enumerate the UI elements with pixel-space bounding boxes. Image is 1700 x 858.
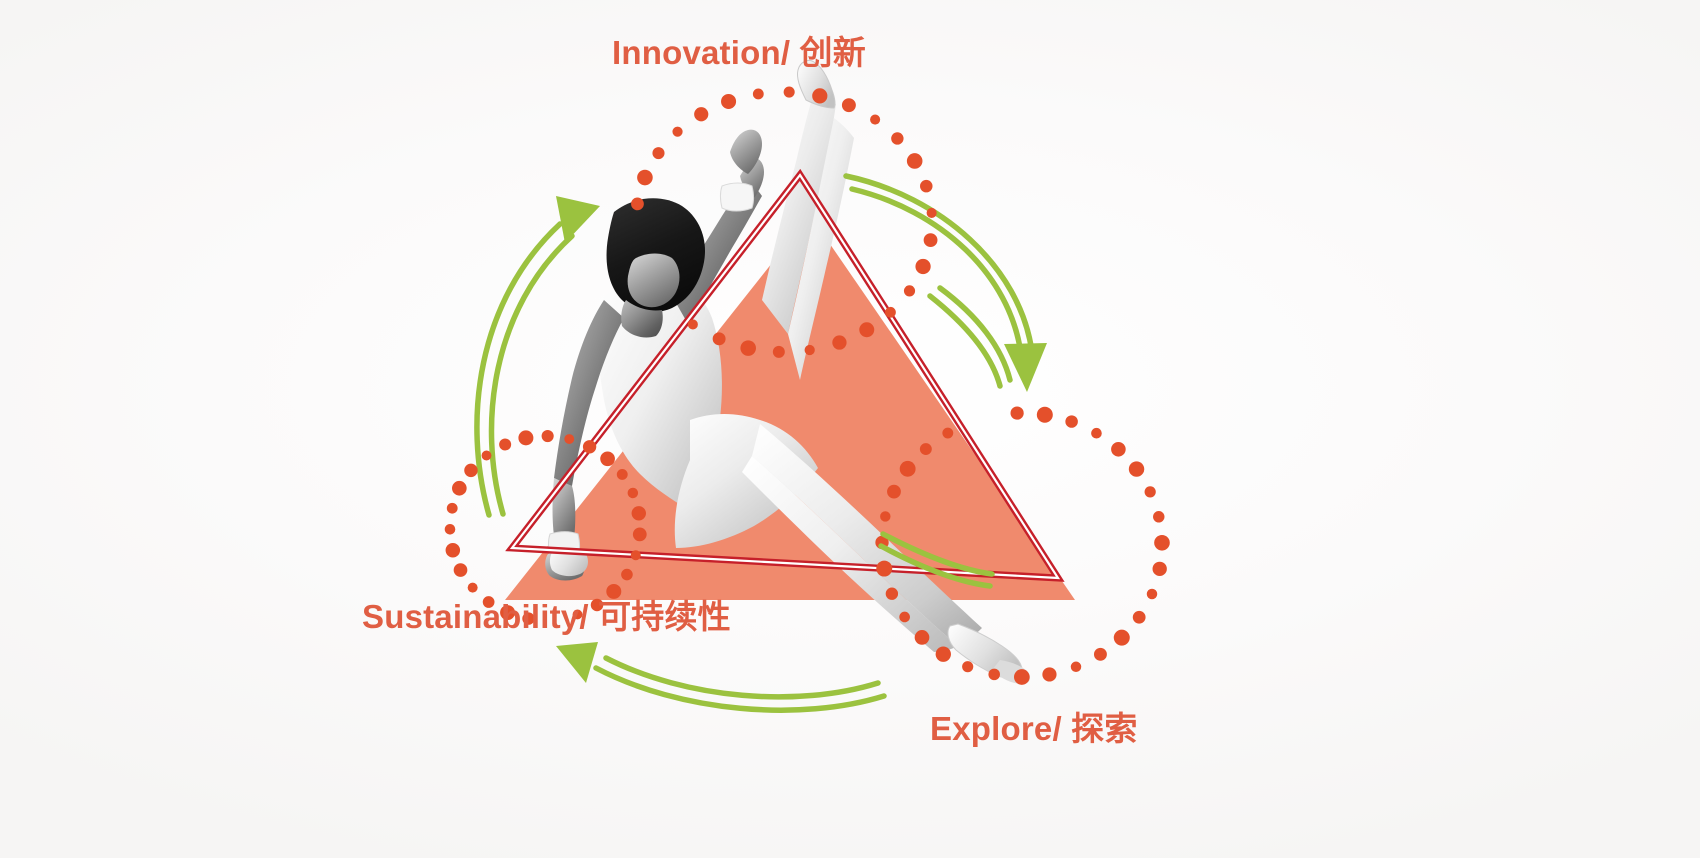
ring-dot (876, 561, 892, 577)
ring-dot (842, 98, 856, 112)
ring-dot (1014, 669, 1030, 685)
ring-dot (1129, 461, 1144, 476)
ring-dot (1065, 415, 1077, 427)
label-explore: Explore/ 探索 (930, 712, 1138, 745)
ring-dot (805, 345, 815, 355)
ring-dot (1011, 406, 1024, 419)
ring-dot (1153, 562, 1167, 576)
ring-dot (621, 569, 633, 581)
ring-dot (518, 430, 533, 445)
ring-dot (1111, 442, 1126, 457)
ring-dot (631, 550, 641, 560)
ring-dot (468, 583, 478, 593)
ring-dot (454, 563, 468, 577)
ring-dot (721, 94, 736, 109)
ring-dot (870, 115, 880, 125)
ring-dot (907, 153, 923, 169)
ring-dot (920, 443, 932, 455)
ring-dot (900, 461, 916, 477)
ring-dot (628, 488, 639, 499)
ring-dot (1091, 428, 1102, 439)
ring-dot (499, 438, 511, 450)
scene-graphics (0, 0, 1700, 858)
ring-dot (988, 669, 1000, 681)
ring-dot (886, 588, 898, 600)
label-innovation: Innovation/ 创新 (612, 36, 866, 69)
ring-dot (617, 469, 628, 480)
ring-dot (1037, 407, 1053, 423)
ring-dot (606, 584, 621, 599)
ring-dot (915, 259, 930, 274)
ring-dot (904, 285, 915, 296)
ring-dot (887, 485, 901, 499)
ring-dot (694, 107, 708, 121)
ring-dot (942, 428, 953, 439)
ring-dot (600, 451, 615, 466)
ring-dot (583, 440, 596, 453)
ring-dot (1154, 535, 1170, 551)
ring-dot (633, 528, 647, 542)
ring-dot (936, 646, 951, 661)
ring-dot (740, 340, 756, 356)
ring-dot (920, 180, 933, 193)
ring-dot (652, 147, 664, 159)
arrow-explore-to-sustainability (556, 642, 884, 710)
ring-dot (482, 451, 492, 461)
ring-dot (1133, 611, 1146, 624)
ring-dot (899, 612, 910, 623)
ring-dot (447, 503, 458, 514)
poster-canvas: Innovation/ 创新 Sustainability/ 可持续性 Expl… (0, 0, 1700, 858)
ring-dot (464, 464, 477, 477)
ring-dot (784, 87, 795, 98)
ring-dot (773, 346, 785, 358)
ring-dot (1153, 511, 1164, 522)
ring-dot (885, 307, 896, 318)
ring-dot (812, 88, 827, 103)
ring-dot (832, 335, 846, 349)
ring-dot (1071, 662, 1081, 672)
ring-dot (1042, 667, 1056, 681)
ring-dot (672, 127, 682, 137)
ring-dot (927, 208, 937, 218)
ring-dot (891, 132, 903, 144)
ring-dot (446, 543, 460, 557)
ring-dot (1145, 486, 1156, 497)
ring-dot (1114, 630, 1130, 646)
ring-dot (445, 524, 456, 535)
ring-dot (631, 198, 644, 211)
ring-dot (880, 511, 890, 521)
ring-dot (924, 233, 938, 247)
ring-dot (915, 630, 930, 645)
ring-dot (1094, 648, 1107, 661)
ring-dot (962, 661, 973, 672)
ring-dot (452, 481, 467, 496)
ring-dot (688, 319, 698, 329)
ring-dot (542, 430, 554, 442)
ring-dot (713, 332, 726, 345)
ring-dot (859, 322, 874, 337)
ring-dot (564, 434, 574, 444)
ring-dot (1147, 589, 1158, 600)
ring-dot (753, 89, 764, 100)
label-sustainability: Sustainability/ 可持续性 (362, 600, 731, 633)
ring-dot (632, 506, 646, 520)
ring-dot (637, 170, 653, 186)
